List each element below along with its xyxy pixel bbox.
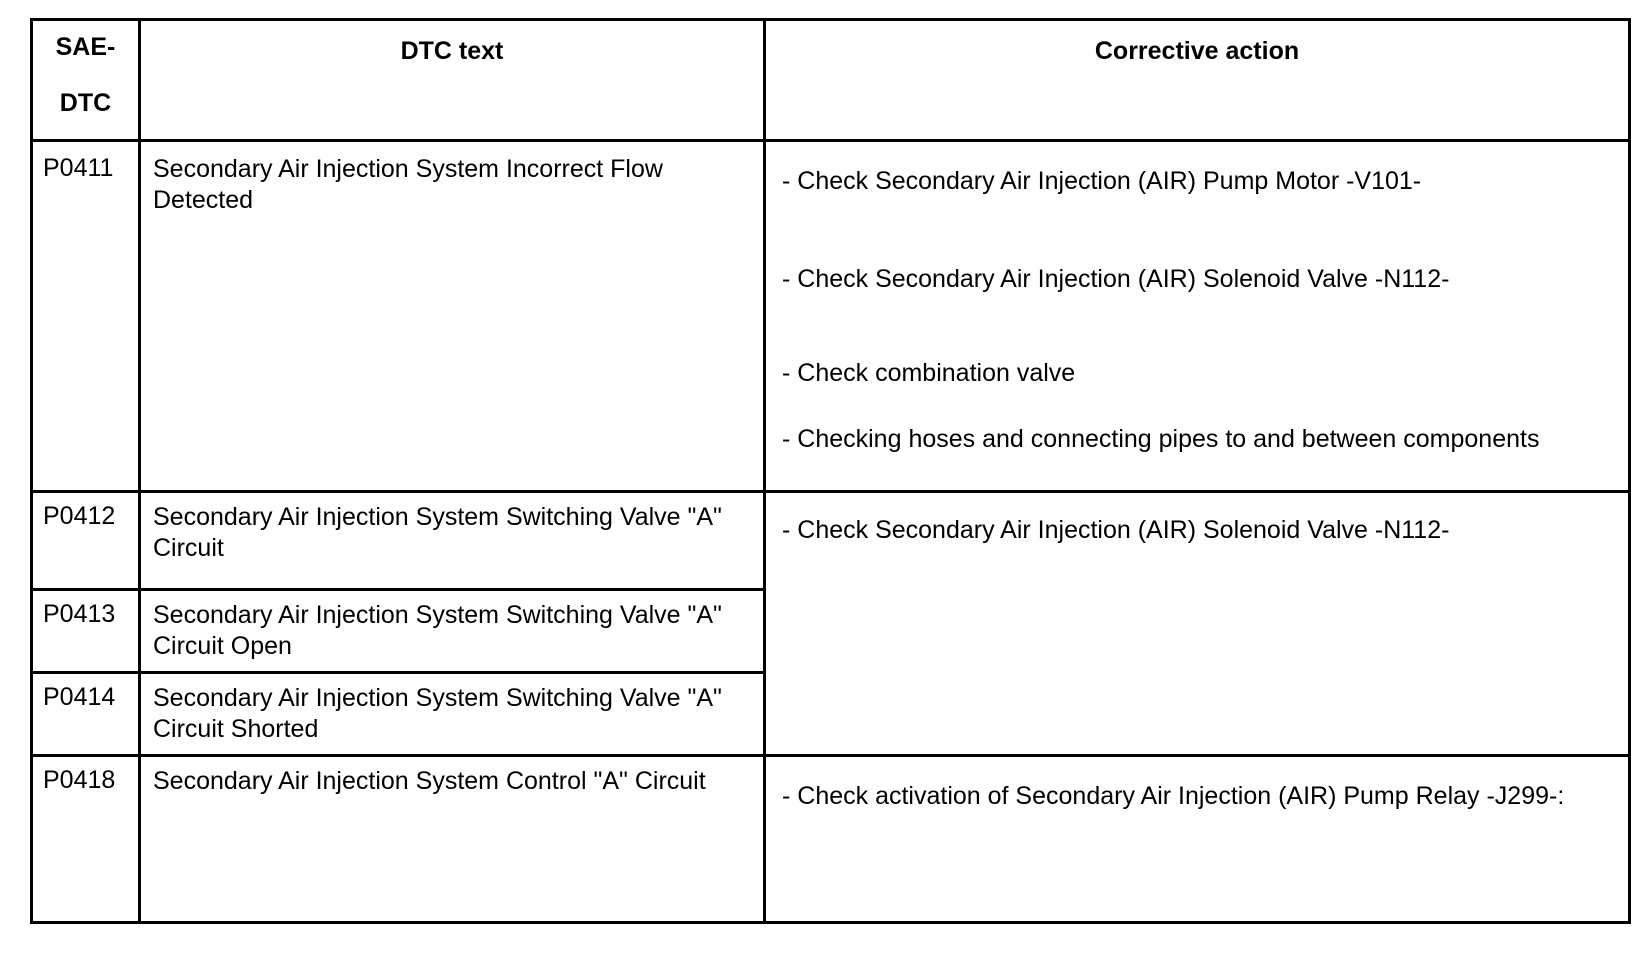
corrective-action-item: - Checking hoses and connecting pipes to… — [782, 424, 1618, 455]
dtc-text-value: Secondary Air Injection System Switching… — [141, 493, 763, 570]
header-sae-line2: DTC — [33, 91, 138, 116]
header-sae-line1: SAE- — [33, 35, 138, 60]
dtc-text-value: Secondary Air Injection System Incorrect… — [141, 142, 763, 222]
table-body: P0411 Secondary Air Injection System Inc… — [32, 141, 1630, 923]
column-header-dtc-text: DTC text — [140, 20, 765, 141]
dtc-text-value: Secondary Air Injection System Switching… — [141, 591, 763, 668]
header-row: SAE- DTC DTC text Corrective action — [32, 20, 1630, 141]
header-corrective-action-label: Corrective action — [766, 21, 1628, 66]
cell-sae-dtc: P0418 — [32, 756, 140, 923]
cell-sae-dtc: P0414 — [32, 673, 140, 756]
corrective-action-item: - Check Secondary Air Injection (AIR) So… — [782, 515, 1618, 546]
sae-dtc-code: P0414 — [33, 674, 138, 713]
sae-dtc-code: P0418 — [33, 757, 138, 796]
corrective-action-item: - Check activation of Secondary Air Inje… — [782, 781, 1618, 812]
table-header: SAE- DTC DTC text Corrective action — [32, 20, 1630, 141]
dtc-text-value: Secondary Air Injection System Control "… — [141, 757, 763, 803]
corrective-action-item: - Check Secondary Air Injection (AIR) So… — [782, 264, 1618, 295]
dtc-text-value: Secondary Air Injection System Switching… — [141, 674, 763, 751]
sae-dtc-code: P0413 — [33, 591, 138, 630]
table-row: P0412 Secondary Air Injection System Swi… — [32, 492, 1630, 590]
dtc-table: SAE- DTC DTC text Corrective action P041… — [30, 18, 1631, 924]
cell-dtc-text: Secondary Air Injection System Incorrect… — [140, 141, 765, 492]
cell-dtc-text: Secondary Air Injection System Switching… — [140, 590, 765, 673]
cell-dtc-text: Secondary Air Injection System Switching… — [140, 673, 765, 756]
corrective-action-item: - Check Secondary Air Injection (AIR) Pu… — [782, 166, 1618, 197]
column-header-sae-dtc: SAE- DTC — [32, 20, 140, 141]
table-row: P0418 Secondary Air Injection System Con… — [32, 756, 1630, 923]
cell-corrective-action: - Check activation of Secondary Air Inje… — [765, 756, 1630, 923]
sae-dtc-code: P0412 — [33, 493, 138, 532]
sae-dtc-code: P0411 — [33, 142, 138, 184]
cell-sae-dtc: P0411 — [32, 141, 140, 492]
column-header-corrective-action: Corrective action — [765, 20, 1630, 141]
corrective-action-item: - Check combination valve — [782, 358, 1618, 389]
cell-dtc-text: Secondary Air Injection System Switching… — [140, 492, 765, 590]
document-page: SAE- DTC DTC text Corrective action P041… — [0, 0, 1648, 978]
cell-corrective-action: - Check Secondary Air Injection (AIR) Pu… — [765, 141, 1630, 492]
cell-sae-dtc: P0412 — [32, 492, 140, 590]
cell-corrective-action-merged: - Check Secondary Air Injection (AIR) So… — [765, 492, 1630, 756]
cell-sae-dtc: P0413 — [32, 590, 140, 673]
header-dtc-text-label: DTC text — [141, 21, 763, 66]
cell-dtc-text: Secondary Air Injection System Control "… — [140, 756, 765, 923]
table-row: P0411 Secondary Air Injection System Inc… — [32, 141, 1630, 492]
